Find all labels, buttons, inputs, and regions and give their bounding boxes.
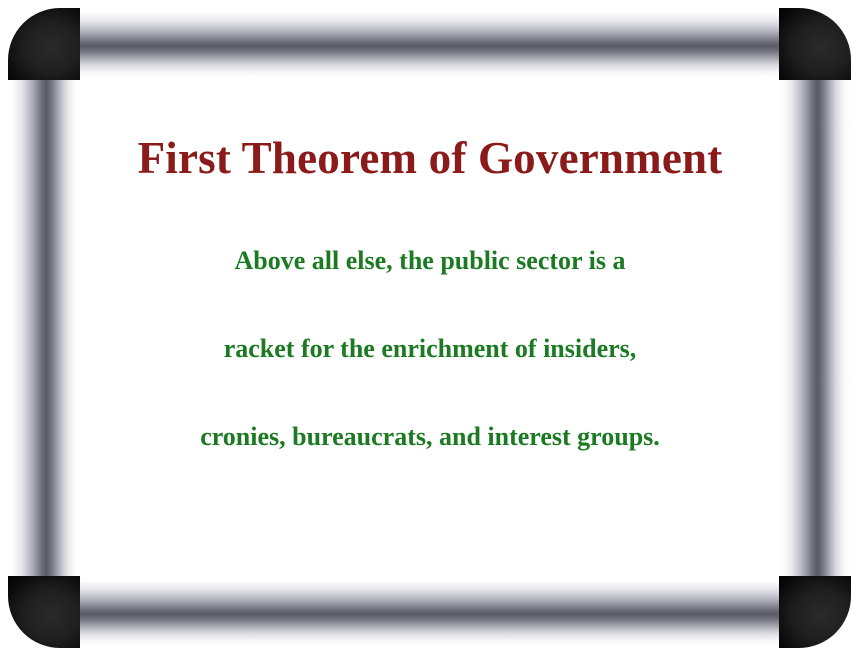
slide-canvas: First Theorem of Government Above all el… (0, 0, 859, 659)
frame-bar-bottom (80, 576, 779, 648)
frame-corner-top-right (779, 8, 851, 80)
slide-content-panel: First Theorem of Government Above all el… (82, 88, 778, 582)
frame-corner-top-left (8, 8, 80, 80)
slide-body-line: racket for the enrichment of insiders, (82, 336, 778, 362)
frame-bar-right (779, 80, 851, 576)
slide-title: First Theorem of Government (82, 136, 778, 181)
frame-corner-bottom-right (779, 576, 851, 648)
decorative-metal-frame: First Theorem of Government Above all el… (8, 8, 851, 648)
frame-corner-bottom-left (8, 576, 80, 648)
frame-bar-left (8, 80, 80, 576)
slide-body-line: Above all else, the public sector is a (82, 248, 778, 274)
slide-body: Above all else, the public sector is a r… (82, 248, 778, 450)
frame-bar-top (80, 8, 779, 80)
slide-body-line: cronies, bureaucrats, and interest group… (82, 424, 778, 450)
